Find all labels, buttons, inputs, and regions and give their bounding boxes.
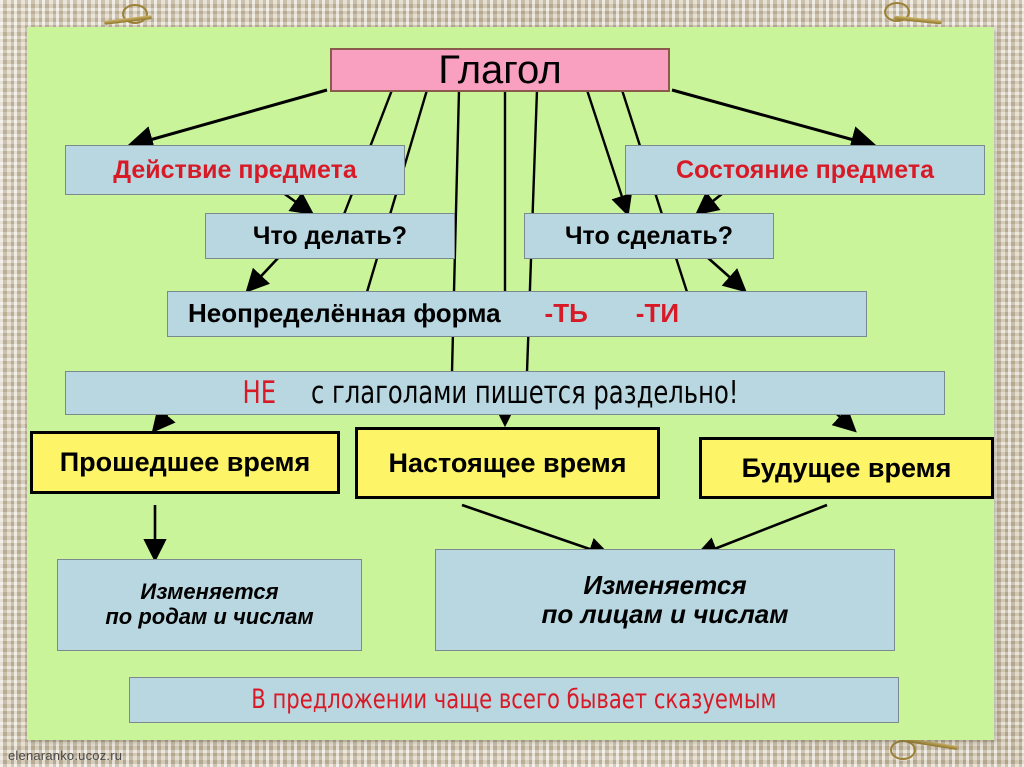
node-changes-by-person-number-line-2: по лицам и числам (542, 600, 789, 629)
watermark: elenaranko.ucoz.ru (8, 748, 122, 763)
node-state-of-object-label: Состояние предмета (676, 156, 934, 184)
node-changes-by-gender-number-line-1: Изменяется (140, 580, 278, 605)
node-verb-title-label: Глагол (438, 48, 561, 93)
node-action-of-object: Действие предмета (65, 145, 405, 195)
node-action-of-object-label: Действие предмета (113, 156, 356, 184)
node-present-tense-label: Настоящее время (388, 448, 626, 478)
node-infinitive-suffix-2: -ТИ (636, 299, 679, 328)
node-question-imperfective-label: Что делать? (253, 222, 407, 250)
node-future-tense: Будущее время (699, 437, 994, 499)
node-ne-rule-text: с глаголами пишется раздельно! (311, 376, 739, 411)
node-infinitive-label: Неопределённая форма (188, 299, 501, 328)
node-verb-title: Глагол (330, 48, 670, 92)
node-ne-rule-negation: НЕ (242, 376, 276, 411)
node-changes-by-gender-number: Изменяется по родам и числам (57, 559, 362, 651)
node-present-tense: Настоящее время (355, 427, 660, 499)
node-past-tense: Прошедшее время (30, 431, 340, 494)
node-future-tense-label: Будущее время (742, 453, 952, 483)
node-ne-rule: НЕ с глаголами пишется раздельно! (65, 371, 945, 415)
node-question-perfective-label: Что сделать? (565, 222, 733, 250)
node-infinitive-suffix-1: -ТЬ (545, 299, 588, 328)
node-past-tense-label: Прошедшее время (60, 447, 311, 477)
node-predicate-role: В предложении чаще всего бывает сказуемы… (129, 677, 899, 723)
node-changes-by-person-number-line-1: Изменяется (583, 571, 746, 600)
node-changes-by-gender-number-line-2: по родам и числам (105, 605, 313, 630)
node-state-of-object: Состояние предмета (625, 145, 985, 195)
node-question-imperfective: Что делать? (205, 213, 455, 259)
node-infinitive: Неопределённая форма -ТЬ -ТИ (167, 291, 867, 337)
diagram-board: Глагол Действие предмета Состояние предм… (27, 27, 994, 740)
node-question-perfective: Что сделать? (524, 213, 774, 259)
slide-canvas: Глагол Действие предмета Состояние предм… (0, 0, 1024, 767)
node-predicate-role-label: В предложении чаще всего бывает сказуемы… (251, 685, 776, 715)
node-changes-by-person-number: Изменяется по лицам и числам (435, 549, 895, 651)
